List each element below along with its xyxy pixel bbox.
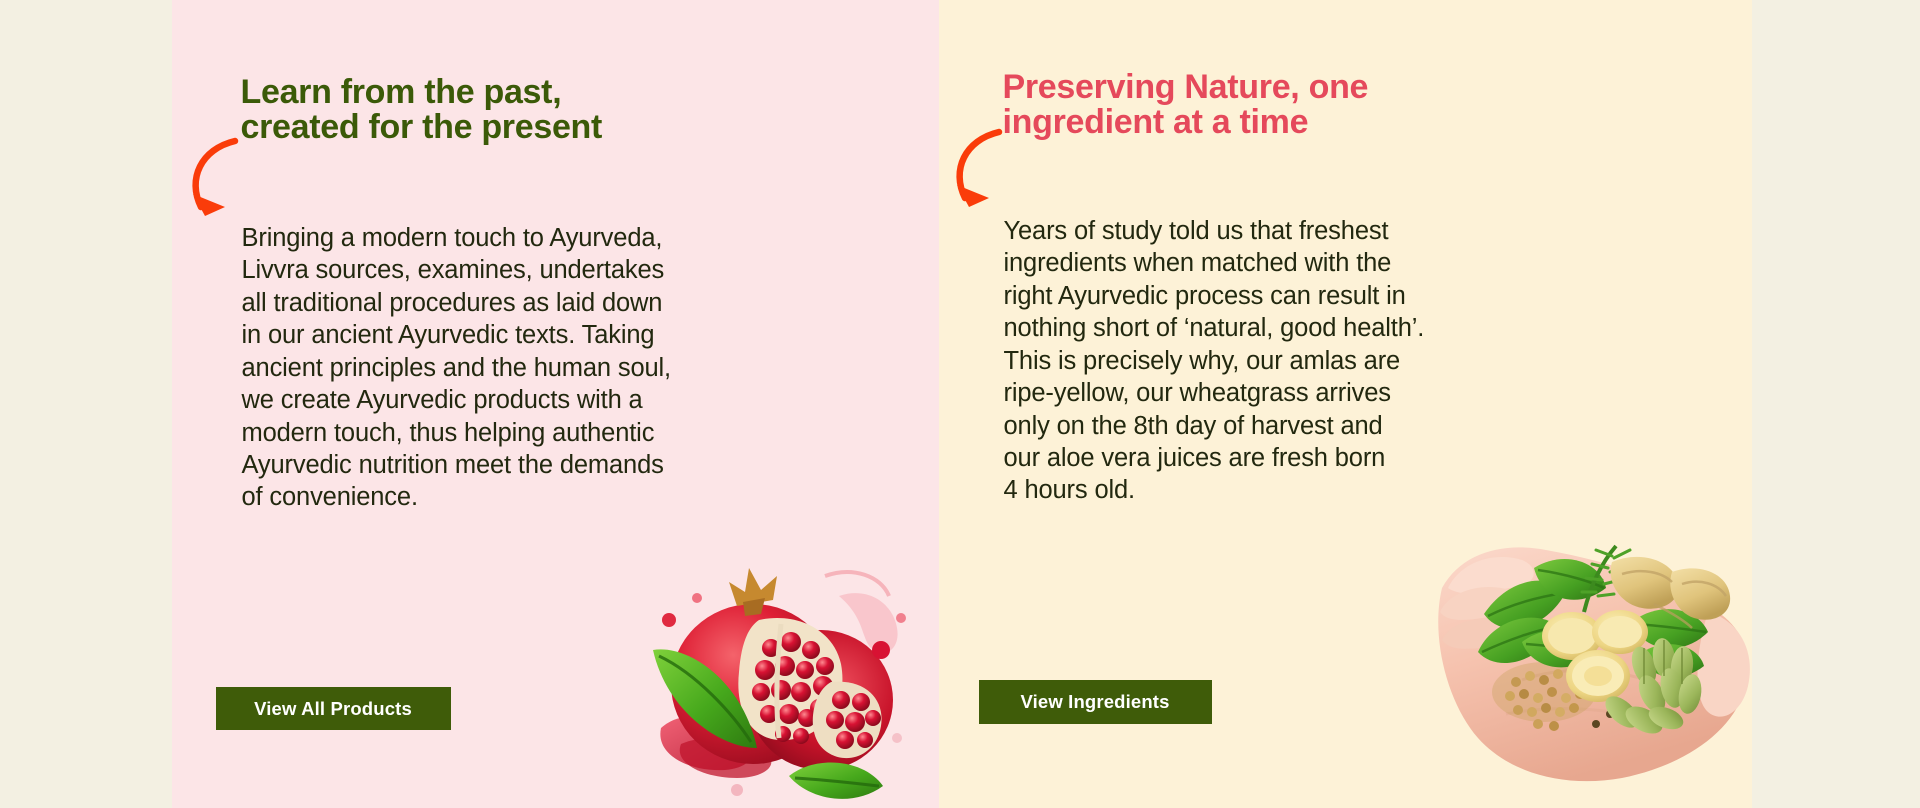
panel-group: Learn from the past, created for the pre… [172,0,1752,808]
panel-heading-preserving-nature: Preserving Nature, one ingredient at a t… [1003,70,1369,141]
curved-arrow-icon [949,128,1013,225]
panel-body-preserving-nature: Years of study told us that freshest ing… [1004,215,1425,507]
page-root: Learn from the past, created for the pre… [0,0,1920,808]
hand-holding-herbs-image [1426,516,1752,808]
panel-heading-past-present: Learn from the past, created for the pre… [241,75,603,146]
view-ingredients-button[interactable]: View Ingredients [979,680,1212,724]
panel-past-present: Learn from the past, created for the pre… [172,0,939,808]
panel-preserving-nature: Preserving Nature, one ingredient at a t… [939,0,1752,808]
pomegranate-image [625,532,925,808]
curved-arrow-icon [185,137,249,234]
view-all-products-button[interactable]: View All Products [216,687,451,730]
panel-body-past-present: Bringing a modern touch to Ayurveda, Liv… [242,222,672,514]
